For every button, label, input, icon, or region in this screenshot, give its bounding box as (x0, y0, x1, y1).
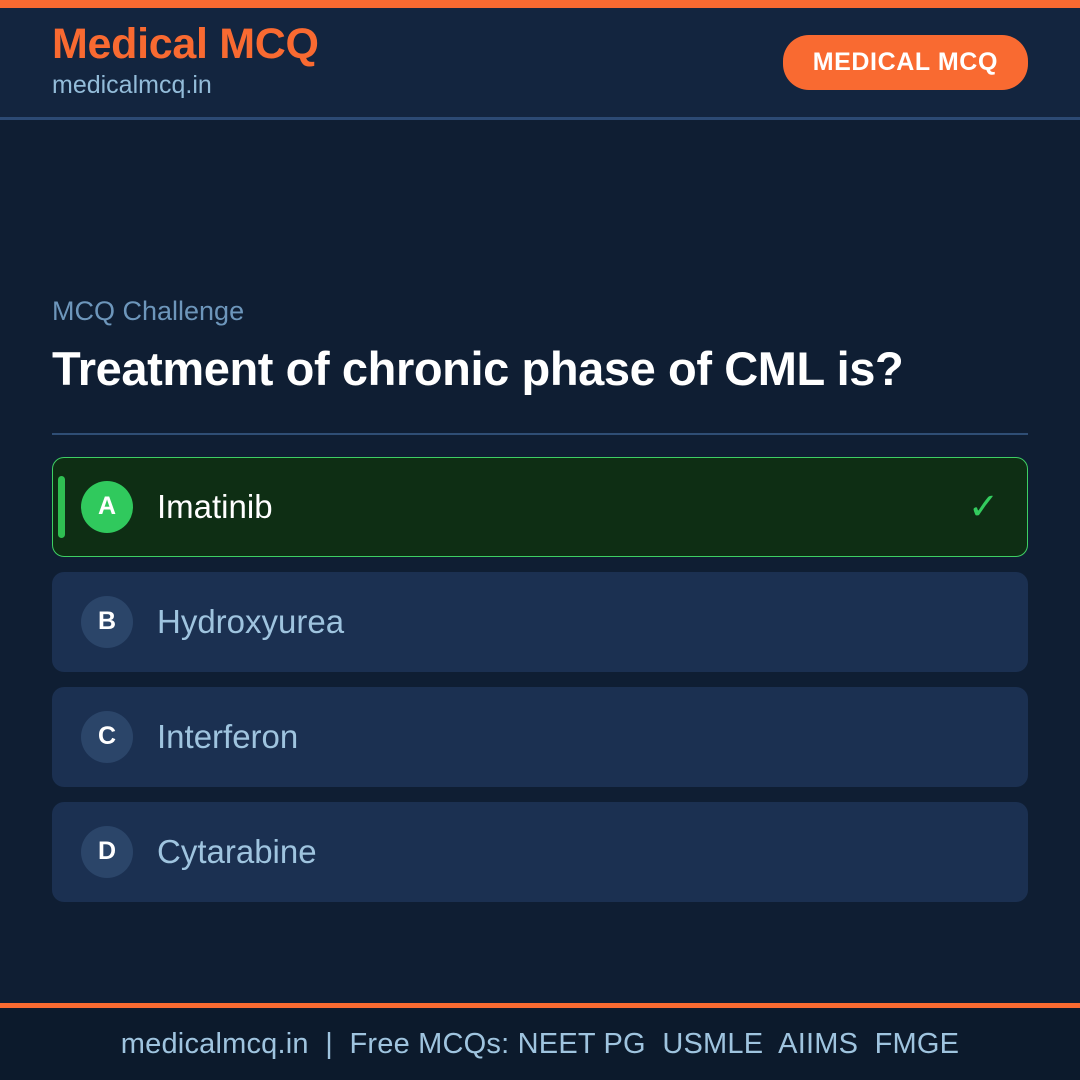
brand-subtitle: medicalmcq.in (52, 69, 319, 103)
options-list: A Imatinib ✓ B Hydroxyurea C Interferon … (52, 457, 1028, 902)
option-b[interactable]: B Hydroxyurea (52, 572, 1028, 672)
brand: Medical MCQ medicalmcq.in (52, 22, 319, 103)
question-eyebrow: MCQ Challenge (52, 295, 1028, 327)
header: Medical MCQ medicalmcq.in MEDICAL MCQ (0, 8, 1080, 120)
option-label: Hydroxyurea (157, 604, 344, 640)
option-letter-badge: B (81, 596, 133, 648)
footer: medicalmcq.in | Free MCQs: NEET PG USMLE… (0, 1003, 1080, 1080)
option-c[interactable]: C Interferon (52, 687, 1028, 787)
option-label: Interferon (157, 719, 298, 755)
option-letter-badge: C (81, 711, 133, 763)
mcq-card: Medical MCQ medicalmcq.in MEDICAL MCQ MC… (0, 0, 1080, 1080)
header-badge: MEDICAL MCQ (783, 35, 1028, 90)
option-letter-badge: D (81, 826, 133, 878)
option-label: Cytarabine (157, 834, 317, 870)
option-d[interactable]: D Cytarabine (52, 802, 1028, 902)
option-a[interactable]: A Imatinib ✓ (52, 457, 1028, 557)
footer-text: medicalmcq.in | Free MCQs: NEET PG USMLE… (121, 1028, 959, 1061)
question-text: Treatment of chronic phase of CML is? (52, 341, 952, 396)
question-divider (52, 433, 1028, 435)
correct-accent-bar (58, 476, 65, 538)
top-accent-bar (0, 0, 1080, 8)
brand-title: Medical MCQ (52, 22, 319, 67)
check-icon: ✓ (968, 488, 999, 525)
option-label: Imatinib (157, 489, 273, 525)
main-content: MCQ Challenge Treatment of chronic phase… (0, 120, 1080, 1003)
option-letter-badge: A (81, 481, 133, 533)
question-block: MCQ Challenge Treatment of chronic phase… (52, 295, 1028, 397)
